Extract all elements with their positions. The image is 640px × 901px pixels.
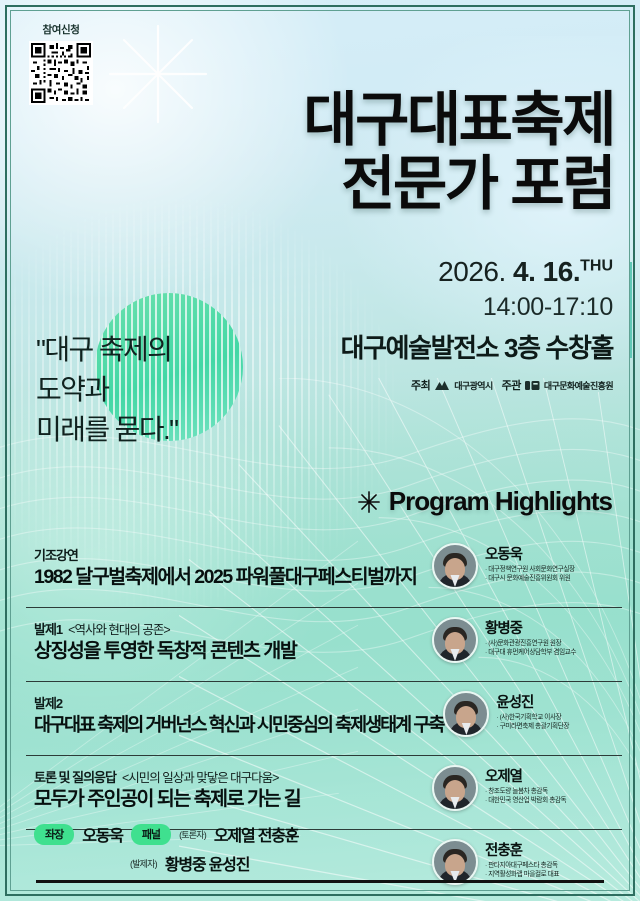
title-line-2: 전문가 포럼 [303,156,614,213]
program-row: 발제1 <역사와 현대의 공존> 상징성을 투영한 독창적 콘텐츠 개발 황병중… [26,614,622,682]
avatar [432,617,478,663]
speaker-name: 오동욱 [485,548,575,564]
organizer-host: 주최 대구광역시 [411,377,493,393]
program-kicker-tag: 발제2 [34,693,62,712]
program-row: 발제2 대구대표 축제의 거버넌스 혁신과 시민중심의 축제생태계 구축 윤성진… [26,688,622,756]
program-row-text: 토론 및 질의응답 <시민의 일상과 맞닿은 대구다움> 모두가 주인공이 되는… [26,762,300,811]
organizer-row: 주최 대구광역시 주관 대구문화예술진흥원 [341,377,613,393]
speaker-credential: 대구시 문화예술진흥위원회 위원 [485,574,575,584]
organizer-role-manager: 주관 [502,377,521,393]
speaker-text: 전충훈 판타지아대구페스타 총감독 지역활성화랩 마을컬로 대표 [485,844,559,880]
program-title: 대구대표 축제의 거버넌스 혁신과 시민중심의 축제생태계 구축 [34,714,443,736]
program-row-text: 기조강연 1982 달구벌축제에서 2025 파워풀대구페스티벌까지 [26,540,416,589]
speaker-credential: 판타지아대구페스타 총감독 [485,861,559,871]
program-row-text [26,836,34,841]
speaker-card: 오동욱 대구정책연구원 사회문화연구실장 대구시 문화예술진흥위원회 위원 [432,540,622,589]
speaker-name: 전충훈 [485,844,559,860]
organizer-name-manager: 대구문화예술진흥원 [544,379,613,392]
avatar [432,839,478,885]
presenter-names: 황병중 윤성진 [165,851,249,875]
program-row-text: 발제1 <역사와 현대의 공존> 상징성을 투영한 독창적 콘텐츠 개발 [26,614,296,663]
speaker-name: 오제열 [485,770,566,786]
event-venue: 대구예술발전소 3층 수창홀 [341,328,613,365]
footer-rule [36,880,604,883]
meta-accent-rule [629,262,632,358]
poster-title: 대구대표축제 전문가 포럼 [303,92,614,212]
organizer-name-host: 대구광역시 [454,379,492,392]
speaker-name: 황병중 [485,622,576,638]
avatar [432,543,478,589]
speaker-text: 윤성진 (사)한국기획학교 이사장 구미라면축제 총괄기획단장 [496,696,569,732]
speaker-credential: 대구대 휴먼케어상담학부 겸임교수 [485,648,576,658]
program-kicker: 기조강연 [34,545,416,564]
chair-pill: 좌장 [34,824,74,845]
organizer-role-host: 주최 [411,377,430,393]
speaker-card: 전충훈 판타지아대구페스타 총감독 지역활성화랩 마을컬로 대표 [432,836,622,885]
speaker-card: 황병중 (사)문화관광진흥연구원 원장 대구대 휴먼케어상담학부 겸임교수 [432,614,622,663]
event-meta: 2026. 4. 16.THU 14:00-17:10 대구예술발전소 3층 수… [341,256,613,393]
speaker-name: 윤성진 [496,696,569,712]
avatar [443,691,489,737]
speaker-credential: (사)한국기획학교 이사장 [496,713,569,723]
program-row-text: 발제2 대구대표 축제의 거버넌스 혁신과 시민중심의 축제생태계 구축 [26,688,443,736]
speaker-card: 오제열 창조도량 늘봄차 총감독 대한민국 영산업 박람회 총감독 [432,762,622,811]
tagline-line-1: "대구 축제의 [36,330,286,370]
speaker-credential: 구미라면축제 총괄기획단장 [496,722,569,732]
program-title: 상징성을 투영한 독창적 콘텐츠 개발 [34,640,296,663]
program-kicker-sub: <역사와 현대의 공존> [68,619,170,638]
date-year: 2026. [438,256,506,287]
registration-qr-block[interactable]: 참여신청 [22,22,100,105]
discussant-names: 오제열 전충훈 [214,822,298,846]
avatar [432,765,478,811]
discussant-role-label: (토론자) [179,828,206,841]
speaker-credential: 대구정책연구원 사회문화연구실장 [485,565,575,575]
chair-name: 오동욱 [82,822,123,846]
program-highlights-header: Program Highlights [358,486,612,517]
program-title: 모두가 주인공이 되는 축제로 가는 길 [34,788,300,811]
program-row: 기조강연 1982 달구벌축제에서 2025 파워풀대구페스티벌까지 오동욱 대… [26,540,622,608]
speaker-text: 황병중 (사)문화관광진흥연구원 원장 대구대 휴먼케어상담학부 겸임교수 [485,622,576,658]
tagline-line-2: 도약과 [36,370,286,410]
dgfac-logo [525,380,540,391]
panel-footer-row-2: (발제자) 황병중 윤성진 [34,851,394,875]
qr-label: 참여신청 [22,22,100,37]
sparkle-icon [108,24,208,124]
date-day: 16. [543,256,580,287]
title-line-1: 대구대표축제 [303,92,614,149]
program-kicker-tag: 발제1 [34,619,62,638]
speaker-text: 오동욱 대구정책연구원 사회문화연구실장 대구시 문화예술진흥위원회 위원 [485,548,575,584]
program-title: 1982 달구벌축제에서 2025 파워풀대구페스티벌까지 [34,566,416,589]
sparkle-icon [358,491,380,513]
program-highlights-title: Program Highlights [389,486,612,517]
daegu-city-logo [434,380,450,391]
speaker-card: 윤성진 (사)한국기획학교 이사장 구미라면축제 총괄기획단장 [443,688,633,737]
program-kicker: 토론 및 질의응답 <시민의 일상과 맞닿은 대구다움> [34,767,300,786]
speaker-credential: (사)문화관광진흥연구원 원장 [485,639,576,649]
program-kicker-tag: 토론 및 질의응답 [34,767,116,786]
program-kicker-sub: <시민의 일상과 맞닿은 대구다움> [122,767,279,786]
panel-footer-row-1: 좌장 오동욱 패널 (토론자) 오제열 전충훈 [34,822,394,846]
date-weekday: THU [580,258,613,275]
event-time: 14:00-17:10 [341,293,613,322]
date-month: 4. [513,256,535,287]
speaker-credential: 대한민국 영산업 박람회 총감독 [485,796,566,806]
poster-root: 참여신청 [0,0,640,901]
program-row: 토론 및 질의응답 <시민의 일상과 맞닿은 대구다움> 모두가 주인공이 되는… [26,762,622,830]
program-kicker-tag: 기조강연 [34,545,78,564]
speaker-credential: 지역활성화랩 마을컬로 대표 [485,870,559,880]
panel-pill: 패널 [131,824,171,845]
event-date: 2026. 4. 16.THU [341,256,613,288]
tagline-line-3: 미래를 묻다." [36,410,286,450]
qr-code-icon[interactable] [29,41,93,105]
organizer-manager: 주관 대구문화예술진흥원 [502,377,613,393]
speaker-credential: 창조도량 늘봄차 총감독 [485,787,566,797]
program-kicker: 발제2 [34,693,443,712]
presenter-role-label: (발제자) [130,857,157,870]
speaker-text: 오제열 창조도량 늘봄차 총감독 대한민국 영산업 박람회 총감독 [485,770,566,806]
tagline: "대구 축제의 도약과 미래를 묻다." [36,330,286,449]
panel-footer: 좌장 오동욱 패널 (토론자) 오제열 전충훈 (발제자) 황병중 윤성진 [34,822,394,875]
program-kicker: 발제1 <역사와 현대의 공존> [34,619,296,638]
